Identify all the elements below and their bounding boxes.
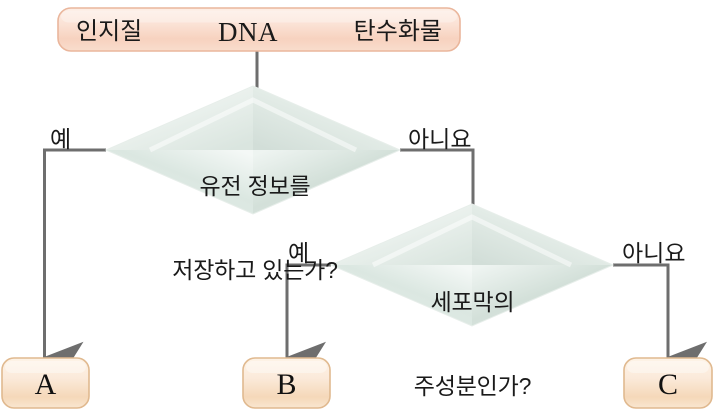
- edge-decision1-no-to-decision2: [400, 150, 473, 207]
- flowchart-canvas: [0, 0, 717, 412]
- decision-diamond-1: [106, 86, 400, 214]
- top-category-box: [58, 8, 460, 51]
- terminal-box-C: [624, 358, 712, 408]
- edge-decision2-no-to-C: [613, 265, 668, 349]
- connector-group: [45, 50, 669, 358]
- terminal-box-A: [2, 358, 89, 408]
- edge-decision2-yes-to-B: [287, 265, 331, 349]
- decision-diamond-2: [331, 204, 613, 326]
- flowchart-diagram: 인지질 DNA 탄수화물 유전 정보를 저장하고 있는가? 세포막의 주성분인가…: [0, 0, 717, 412]
- terminal-box-B: [243, 358, 330, 408]
- edge-decision1-yes-to-A: [45, 150, 107, 349]
